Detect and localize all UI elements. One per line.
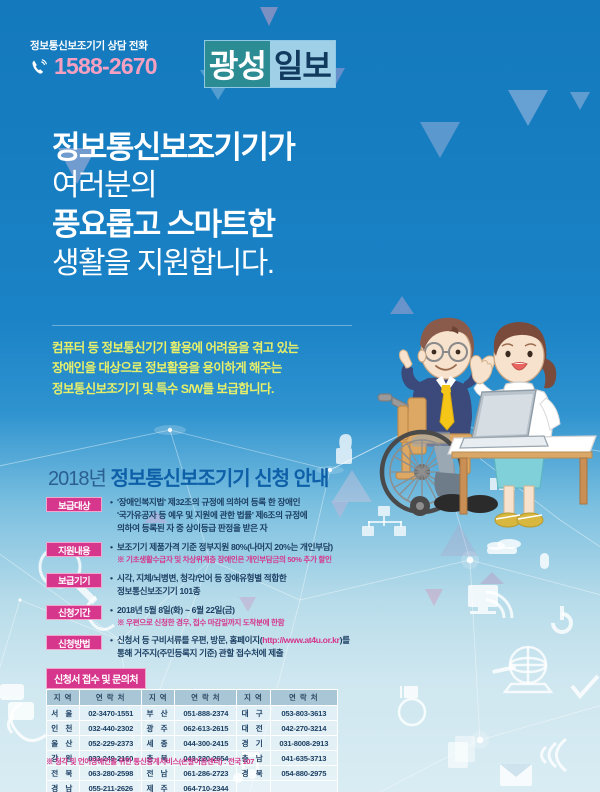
info-line-text: 2018년 5월 8일(화) ~ 6월 22일(금) (117, 604, 235, 617)
region-cell: 세 종 (142, 736, 175, 751)
region-cell: 서 울 (47, 706, 80, 721)
info-line-text: 의하여 등록된 자 중 상이등급 판정을 받은 자 (117, 522, 267, 535)
application-guide-title: 2018년 정보통신보조기기 신청 안내 (48, 462, 328, 491)
info-line: •'장애인복지법' 제32조의 규정에 의하여 등록 한 장애인 (110, 496, 396, 509)
bullet-icon (110, 509, 117, 522)
info-line-text: 신청서 등 구비서류를 우편, 방문, 홈페이지(http://www.at4u… (117, 634, 350, 647)
table-column-header: 연 락 처 (175, 690, 237, 706)
table-body: 서 울02-3470-1551부 산051-888-2374대 구053-803… (47, 706, 338, 792)
info-line-text: '장애인복지법' 제32조의 규정에 의하여 등록 한 장애인 (117, 496, 300, 509)
hero-line-2: 여러분의 (52, 167, 452, 205)
info-line-text: 보조기기 제품가격 기준 정부지원 80%(나머지 20%는 개인부담) (117, 541, 333, 554)
table-row: 서 울02-3470-1551부 산051-888-2374대 구053-803… (47, 706, 338, 721)
info-badge: 신청기간 (46, 605, 102, 620)
logo-text-primary: 광성 (205, 41, 270, 87)
newspaper-logo: 광성 일보 (204, 40, 336, 88)
region-cell: 대 전 (237, 721, 270, 736)
hero-divider (52, 325, 352, 326)
contact-table: 지 역연 락 처지 역연 락 처지 역연 락 처 서 울02-3470-1551… (46, 689, 338, 792)
region-cell: 부 산 (142, 706, 175, 721)
info-body: •시각, 지체/뇌병변, 청각/언어 등 장애유형별 적합한정보통신보조기기 1… (110, 572, 396, 598)
info-body: •2018년 5월 8일(화) ~ 6월 22일(금)※ 우편으로 신청한 경우… (110, 604, 396, 628)
application-website-link[interactable]: http://www.at4u.or.kr (262, 635, 339, 645)
relay-service-footnote: ※ 청각 및 언어장애인을 위한 통신중계서비스(손말이음센터) : 전국 10… (46, 756, 254, 767)
info-body: •신청서 등 구비서류를 우편, 방문, 홈페이지(http://www.at4… (110, 634, 396, 660)
info-row: 신청방법•신청서 등 구비서류를 우편, 방문, 홈페이지(http://www… (46, 634, 396, 660)
info-line: •보조기기 제품가격 기준 정부지원 80%(나머지 20%는 개인부담) (110, 541, 396, 554)
table-column-header: 지 역 (142, 690, 175, 706)
phone-cell: 064-710-2344 (175, 781, 237, 792)
bullet-icon: • (110, 572, 117, 585)
phone-cell: 054-880-2975 (270, 766, 337, 781)
guide-title-text: 정보통신보조기기 신청 안내 (110, 468, 328, 490)
info-note: ※ 기초생활수급자 및 차상위계층 장애인은 개인부담금의 50% 추가 할인 (110, 554, 396, 565)
info-body: •'장애인복지법' 제32조의 규정에 의하여 등록 한 장애인'국가유공자 등… (110, 496, 396, 535)
phone-cell: 032-440-2302 (80, 721, 142, 736)
region-cell: 인 천 (47, 721, 80, 736)
subtitle-line-1: 컴퓨터 등 정보통신기기 활용에 어려움을 겪고 있는 (52, 338, 382, 358)
hero-line-1: 정보통신보조기기가 (52, 128, 452, 167)
info-line: •2018년 5월 8일(화) ~ 6월 22일(금) (110, 604, 396, 617)
contact-table-title: 신청서 접수 및 문의처 (46, 668, 146, 689)
application-info-list: 보급대상•'장애인복지법' 제32조의 규정에 의하여 등록 한 장애인'국가유… (46, 496, 396, 666)
logo-text-secondary: 일보 (270, 41, 335, 87)
region-cell (237, 781, 270, 792)
table-column-header: 지 역 (237, 690, 270, 706)
hero-line-3: 풍요롭고 스마트한 (52, 205, 452, 244)
bullet-icon: • (110, 604, 117, 617)
phone-cell: 044-300-2415 (175, 736, 237, 751)
info-badge: 신청방법 (46, 635, 102, 650)
phone-cell: 053-803-3613 (270, 706, 337, 721)
table-row: 경 남055-211-2626제 주064-710-2344 (47, 781, 338, 792)
hero-subtitle: 컴퓨터 등 정보통신기기 활용에 어려움을 겪고 있는 장애인을 대상으로 정보… (52, 338, 382, 399)
guide-year: 2018년 (48, 468, 106, 490)
bullet-icon (110, 647, 117, 660)
region-cell: 경 기 (237, 736, 270, 751)
header-contact-block: 정보통신보조기기 상담 전화 1588-2670 (30, 38, 157, 78)
bullet-icon: • (110, 541, 117, 554)
table-row: 인 천032-440-2302광 주062-613-2615대 전042-270… (47, 721, 338, 736)
region-cell: 대 구 (237, 706, 270, 721)
subtitle-line-3: 정보통신보조기기 및 특수 S/W를 보급합니다. (52, 379, 382, 399)
consultation-label: 정보통신보조기기 상담 전화 (30, 38, 157, 53)
info-line: 의하여 등록된 자 중 상이등급 판정을 받은 자 (110, 522, 396, 535)
info-line: 통해 거주지(주민등록지 기준) 관할 접수처에 제출 (110, 647, 396, 660)
table-column-header: 연 락 처 (80, 690, 142, 706)
info-row: 신청기간•2018년 5월 8일(화) ~ 6월 22일(금)※ 우편으로 신청… (46, 604, 396, 628)
info-line-text: 시각, 지체/뇌병변, 청각/언어 등 장애유형별 적합한 (117, 572, 286, 585)
info-line: •신청서 등 구비서류를 우편, 방문, 홈페이지(http://www.at4… (110, 634, 396, 647)
bullet-icon (110, 522, 117, 535)
info-line-text: 정보통신보조기기 101종 (117, 585, 200, 598)
table-row: 울 산052-229-2373세 종044-300-2415경 기031-800… (47, 736, 338, 751)
info-badge: 보급대상 (46, 497, 102, 512)
wheelchair-user-and-assistant-illustration (368, 306, 600, 534)
bullet-icon: • (110, 496, 117, 509)
table-header-row: 지 역연 락 처지 역연 락 처지 역연 락 처 (47, 690, 338, 706)
table-column-header: 연 락 처 (270, 690, 337, 706)
bullet-icon: • (110, 634, 117, 647)
phone-cell: 031-8008-2913 (270, 736, 337, 751)
phone-cell: 055-211-2626 (80, 781, 142, 792)
phone-cell: 051-888-2374 (175, 706, 237, 721)
phone-cell: 02-3470-1551 (80, 706, 142, 721)
region-cell: 울 산 (47, 736, 80, 751)
info-line: •시각, 지체/뇌병변, 청각/언어 등 장애유형별 적합한 (110, 572, 396, 585)
info-note: ※ 우편으로 신청한 경우, 접수 마감일까지 도착분에 한함 (110, 617, 396, 628)
phone-cell: 062-613-2615 (175, 721, 237, 736)
info-badge: 지원내용 (46, 542, 102, 557)
phone-cell: 061-286-2723 (175, 766, 237, 781)
phone-cell (270, 781, 337, 792)
subtitle-line-2: 장애인을 대상으로 정보활용을 용이하게 해주는 (52, 358, 382, 378)
phone-cell: 041-635-3713 (270, 751, 337, 766)
hero-line-4: 생활을 지원합니다. (52, 245, 452, 283)
info-body: •보조기기 제품가격 기준 정부지원 80%(나머지 20%는 개인부담)※ 기… (110, 541, 396, 565)
info-badge: 보급기기 (46, 573, 102, 588)
info-row: 보급기기•시각, 지체/뇌병변, 청각/언어 등 장애유형별 적합한정보통신보조… (46, 572, 396, 598)
bullet-icon (110, 585, 117, 598)
region-cell: 전 남 (142, 766, 175, 781)
info-line-text: 통해 거주지(주민등록지 기준) 관할 접수처에 제출 (117, 647, 283, 660)
phone-row: 1588-2670 (30, 55, 157, 78)
table-row: 전 북063-280-2598전 남061-286-2723경 북054-880… (47, 766, 338, 781)
info-row: 지원내용•보조기기 제품가격 기준 정부지원 80%(나머지 20%는 개인부담… (46, 541, 396, 565)
table-column-header: 지 역 (47, 690, 80, 706)
ringing-phone-icon (30, 58, 48, 76)
phone-cell: 063-280-2598 (80, 766, 142, 781)
region-cell: 경 남 (47, 781, 80, 792)
phone-cell: 052-229-2373 (80, 736, 142, 751)
region-cell: 경 북 (237, 766, 270, 781)
info-line-text: '국가유공자 등 예우 및 지원에 관한 법률' 제6조의 규정에 (117, 509, 307, 522)
info-line: 정보통신보조기기 101종 (110, 585, 396, 598)
info-row: 보급대상•'장애인복지법' 제32조의 규정에 의하여 등록 한 장애인'국가유… (46, 496, 396, 535)
hero-headline: 정보통신보조기기가 여러분의 풍요롭고 스마트한 생활을 지원합니다. (52, 128, 452, 283)
region-cell: 전 북 (47, 766, 80, 781)
region-cell: 광 주 (142, 721, 175, 736)
poster-header: 정보통신보조기기 상담 전화 1588-2670 광성 일보 (0, 0, 600, 108)
region-cell: 제 주 (142, 781, 175, 792)
consultation-phone-number: 1588-2670 (54, 55, 157, 78)
info-line: '국가유공자 등 예우 및 지원에 관한 법률' 제6조의 규정에 (110, 509, 396, 522)
phone-cell: 042-270-3214 (270, 721, 337, 736)
poster-canvas: 정보통신보조기기 상담 전화 1588-2670 광성 일보 정보통신보조기기가… (0, 0, 600, 792)
